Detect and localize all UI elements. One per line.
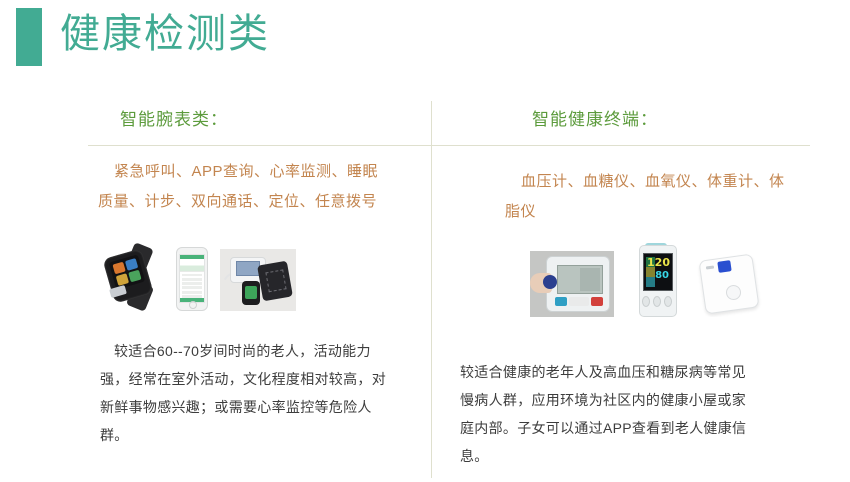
- scale-display-shape: [717, 260, 731, 273]
- vital-signs-monitor-photo: 120 80: [636, 243, 678, 317]
- paired-watch-shape: [242, 281, 260, 305]
- slide-root: 健康检测类 智能腕表类： 智能健康终端： 紧急呼叫、APP查询、心率监测、睡眠质…: [0, 0, 850, 482]
- phone-screen-shape: [179, 254, 205, 303]
- page-title-text: 健康检测类: [60, 8, 270, 60]
- horizontal-divider: [88, 145, 810, 146]
- page-title: 健康检测类: [16, 8, 270, 66]
- features-health-terminal: 血压计、血糖仪、血氧仪、体重计、体脂仪: [505, 167, 790, 227]
- wrist-blood-pressure-monitor-photo: [530, 251, 614, 317]
- title-accent-bar: [16, 8, 42, 66]
- phone-home-button-shape: [189, 301, 197, 309]
- wrist-bp-buttons-shape: [555, 297, 603, 306]
- column-header-health-terminal: 智能健康终端：: [532, 105, 658, 130]
- monitor-knobs-shape: [642, 295, 672, 307]
- blue-button-shape: [543, 275, 557, 289]
- features-smart-watch: 紧急呼叫、APP查询、心率监测、睡眠质量、计步、双向通话、定位、任意拨号: [98, 157, 388, 217]
- photo-strip-health-terminal: 120 80: [530, 243, 766, 317]
- wrist-bp-screen-shape: [557, 265, 603, 294]
- monitor-systolic-value: 120: [647, 257, 670, 268]
- vertical-divider: [431, 101, 432, 478]
- smartwatch-photo: [100, 243, 166, 311]
- bp-cuff-shape: [257, 261, 293, 302]
- description-smart-watch: 较适合60--70岁间时尚的老人，活动能力强，经常在室外活动，文化程度相对较高，…: [100, 337, 390, 449]
- description-health-terminal: 较适合健康的老年人及高血压和糖尿病等常见慢病人群，应用环境为社区内的健康小屋或家…: [460, 358, 760, 470]
- blood-pressure-monitor-watch-photo: [220, 249, 296, 311]
- photo-strip-smart-watch: [100, 243, 296, 311]
- phone-chart-shape: [180, 259, 204, 272]
- paired-watch-screen-shape: [245, 286, 257, 299]
- smartphone-app-photo: [176, 247, 208, 311]
- bp-lcd-shape: [236, 261, 260, 276]
- monitor-screen-shape: 120 80: [643, 253, 673, 291]
- monitor-diastolic-value: 80: [655, 271, 669, 281]
- column-header-smart-watch: 智能腕表类：: [120, 105, 228, 130]
- body-fat-scale-photo: [696, 251, 766, 317]
